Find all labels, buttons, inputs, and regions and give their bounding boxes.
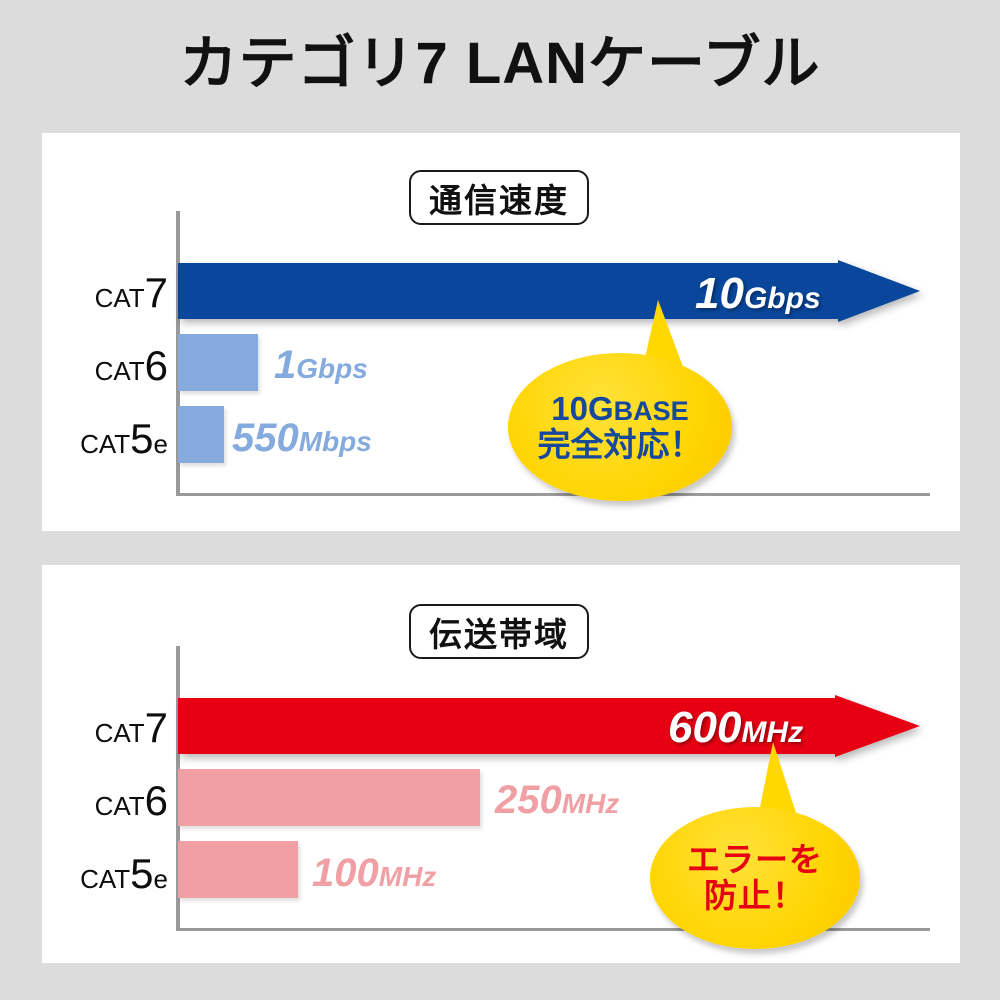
category-word: CAT	[95, 356, 145, 386]
value-unit: MHz	[562, 788, 620, 819]
value-unit: Mbps	[299, 426, 372, 457]
category-label-cat6-band: CAT6	[48, 780, 168, 822]
bar-cat5e-speed	[178, 406, 224, 463]
category-word: CAT	[95, 791, 145, 821]
bubble-10g-text: 10G	[551, 390, 613, 427]
value-label-cat7-speed: 10Gbps	[695, 272, 821, 316]
category-label-cat5e-speed: CAT5e	[48, 418, 168, 460]
callout-bubble-10gbase: 10GBASE 完全対応！	[508, 353, 732, 501]
value-number: 100	[312, 851, 379, 895]
value-label-cat5e-band: 100MHz	[312, 853, 436, 893]
bubble-line-1: 10GBASE	[551, 391, 688, 427]
category-number: 7	[145, 704, 168, 751]
value-label-cat6-band: 250MHz	[495, 780, 619, 820]
value-number: 10	[695, 269, 744, 318]
bar-cat7-band	[178, 695, 920, 757]
category-word: CAT	[95, 718, 145, 748]
category-word: CAT	[80, 429, 130, 459]
category-suffix: e	[154, 864, 168, 894]
section-heading-communication-speed: 通信速度	[409, 170, 589, 225]
category-number: 6	[145, 342, 168, 389]
category-number: 6	[145, 777, 168, 824]
category-label-cat6-speed: CAT6	[48, 345, 168, 387]
section-heading-transmission-bandwidth: 伝送帯域	[409, 604, 589, 659]
value-unit: Gbps	[296, 353, 368, 384]
bar-cat5e-band	[178, 841, 298, 898]
category-number: 7	[145, 269, 168, 316]
category-label-cat7-band: CAT7	[48, 707, 168, 749]
category-label-cat7-speed: CAT7	[48, 272, 168, 314]
callout-bubble-error-prevention: エラーを 防止！	[650, 807, 860, 949]
value-label-cat5e-speed: 550Mbps	[232, 418, 372, 458]
category-word: CAT	[95, 283, 145, 313]
value-number: 550	[232, 416, 299, 460]
bubble-base-text: BASE	[614, 396, 689, 426]
page-title: カテゴリ7 LANケーブル	[0, 26, 1000, 102]
category-number: 5	[130, 850, 153, 897]
category-word: CAT	[80, 864, 130, 894]
bar-cat6-speed	[178, 334, 258, 391]
bubble-line-1: エラーを	[687, 842, 823, 878]
value-number: 250	[495, 778, 562, 822]
value-number: 1	[274, 343, 296, 387]
category-label-cat5e-band: CAT5e	[48, 853, 168, 895]
value-unit: Gbps	[744, 282, 821, 315]
value-unit: MHz	[379, 861, 437, 892]
value-number: 600	[668, 703, 741, 752]
bubble-line-2: 防止！	[704, 878, 806, 914]
x-axis-speed	[176, 493, 930, 496]
category-number: 5	[130, 415, 153, 462]
category-suffix: e	[154, 429, 168, 459]
bar-cat6-band	[178, 769, 480, 826]
value-label-cat6-speed: 1Gbps	[274, 345, 368, 385]
bubble-line-2: 完全対応！	[538, 427, 703, 463]
